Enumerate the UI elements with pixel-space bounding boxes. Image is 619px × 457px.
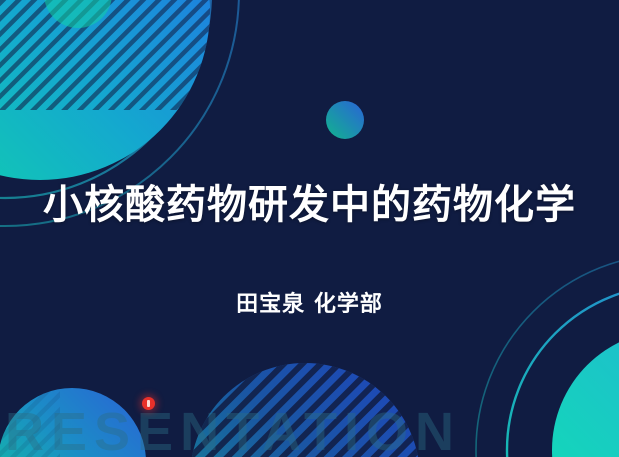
thin-arc-bottom-right-outer bbox=[476, 254, 619, 457]
page-title: 小核酸药物研发中的药物化学 bbox=[0, 182, 619, 228]
slide-background-decoration bbox=[0, 0, 619, 457]
highlight-dot-top-left bbox=[44, 0, 112, 28]
gradient-dot-top-center bbox=[326, 101, 364, 139]
title-block: 小核酸药物研发中的药物化学 bbox=[0, 182, 619, 228]
presentation-slide: PRESENTATION 小核酸药物研发中的药物化学 田宝泉 化学部 bbox=[0, 0, 619, 457]
red-dot-badge-icon bbox=[142, 397, 155, 410]
gradient-circle-bottom-right bbox=[552, 330, 619, 457]
presenter-subtitle: 田宝泉 化学部 bbox=[0, 286, 619, 318]
watermark-text: PRESENTATION bbox=[0, 401, 461, 457]
diagonal-stripes-right-edge bbox=[575, 0, 619, 457]
gradient-circle-top-left bbox=[0, 0, 220, 180]
subtitle-block: 田宝泉 化学部 bbox=[0, 286, 619, 318]
